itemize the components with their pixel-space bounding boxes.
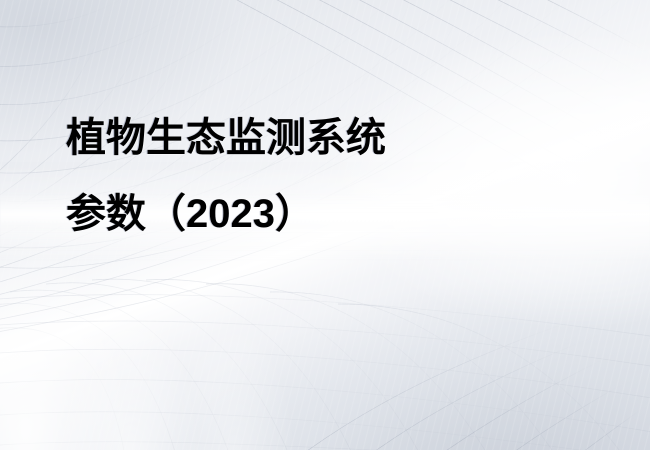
title-slide: 植物生态监测系统 参数（2023） — [0, 0, 650, 450]
title-line-primary: 植物生态监测系统 — [66, 118, 586, 158]
title-line-secondary: 参数（2023） — [66, 194, 586, 234]
title-block: 植物生态监测系统 参数（2023） — [66, 118, 586, 234]
